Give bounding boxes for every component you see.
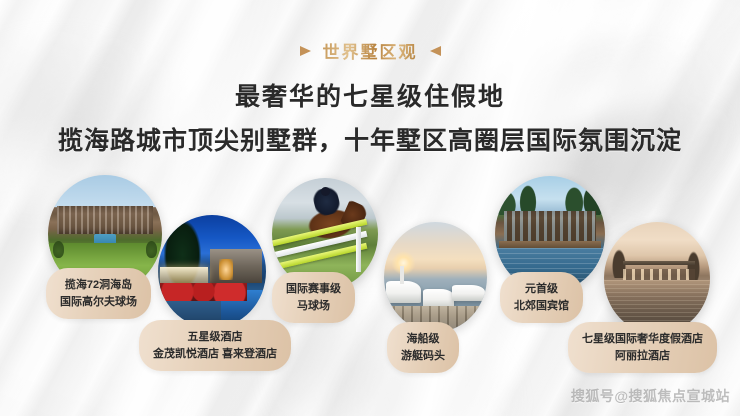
amenity-label-line2: 北郊国宾馆 xyxy=(514,298,569,315)
amenity-label-line1: 国际赛事级 xyxy=(286,281,341,298)
red-flowerbed-shape xyxy=(160,283,246,301)
amenity-label-line1: 七星级国际奢华度假酒店 xyxy=(582,331,703,348)
amenity-label-aila: 七星级国际奢华度假酒店 阿丽拉酒店 xyxy=(568,322,717,373)
amenity-label-line2: 金茂凯悦酒店 喜来登酒店 xyxy=(153,346,277,363)
tree-shape xyxy=(53,241,64,258)
amenity-label-guesthouse: 元首级 北郊国宾馆 xyxy=(500,272,583,323)
hotel-night-entrance-photo[interactable] xyxy=(158,215,266,328)
amenity-label-marina: 海船级 游艇码头 xyxy=(387,322,459,373)
jump-standard-post-shape xyxy=(356,227,361,272)
amenity-label-line2: 马球场 xyxy=(286,298,341,315)
lit-glass-pavilion-shape xyxy=(160,267,208,283)
resort-water-reflection-dusk-photo[interactable] xyxy=(604,222,710,334)
amenity-label-hotel: 五星级酒店 金茂凯悦酒店 喜来登酒店 xyxy=(139,320,291,371)
amenity-label-line1: 揽海72洞海岛 xyxy=(60,277,137,294)
tree-shape xyxy=(146,241,157,258)
amenity-label-line1: 五星级酒店 xyxy=(153,329,277,346)
amenity-label-golf: 揽海72洞海岛 国际高尔夫球场 xyxy=(46,268,151,319)
sunset-glow-shape xyxy=(392,251,415,275)
yacht-shape xyxy=(452,285,485,302)
pavilion-shape xyxy=(623,265,695,281)
amenity-label-line2: 国际高尔夫球场 xyxy=(60,294,137,311)
clubhouse-building-shape xyxy=(57,206,153,234)
amenity-label-line2: 游艇码头 xyxy=(401,348,445,365)
yacht-marina-sunset-photo[interactable] xyxy=(384,222,487,332)
amenity-label-polo: 国际赛事级 马球场 xyxy=(272,272,355,323)
amenity-label-line2: 阿丽拉酒店 xyxy=(582,348,703,365)
hotel-facade-shape xyxy=(210,249,262,283)
watermark: 搜狐号@搜狐焦点宣城站 xyxy=(571,386,730,406)
amenity-label-line1: 海船级 xyxy=(401,331,445,348)
amenity-card-grid: 揽海72洞海岛 国际高尔夫球场 五星级酒店 金茂凯悦酒店 喜来登酒店 xyxy=(0,0,740,416)
guesthouse-building-shape xyxy=(504,211,596,243)
yacht-shape xyxy=(386,281,421,303)
mast-shape xyxy=(400,266,403,284)
slide-canvas: 世界墅区观 最奢华的七星级住假地 揽海路城市顶尖别墅群，十年墅区高圈层国际氛围沉… xyxy=(0,0,740,416)
riding-helmet-shape xyxy=(321,187,331,196)
amenity-label-line1: 元首级 xyxy=(514,281,569,298)
